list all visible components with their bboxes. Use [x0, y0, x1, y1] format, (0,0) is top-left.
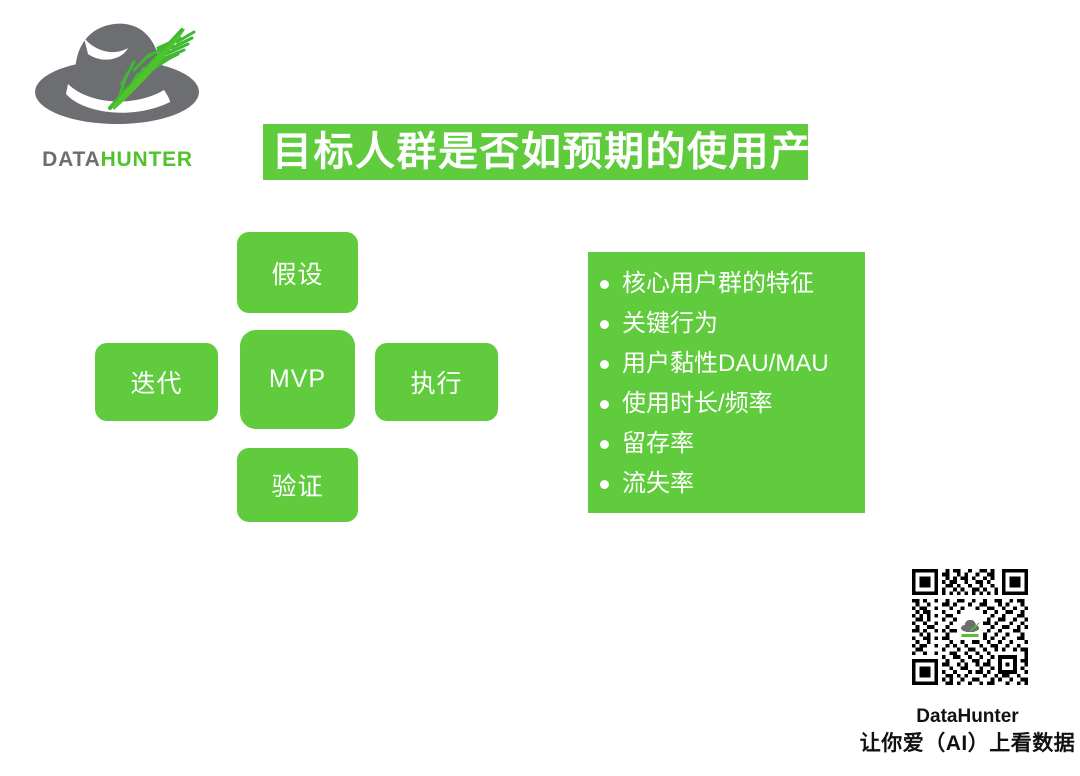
bullet-dot-icon — [600, 320, 609, 329]
bullet-dot-icon — [600, 480, 609, 489]
list-item: 关键行为 — [600, 304, 855, 344]
cowboy-hat-with-feather-logo-icon — [22, 12, 212, 132]
list-item: 使用时长/频率 — [600, 384, 855, 424]
list-item: 流失率 — [600, 464, 855, 504]
brand-wordmark: DATAHUNTER — [25, 148, 210, 172]
metric-label: 用户黏性DAU/MAU — [622, 352, 829, 376]
metrics-panel: 核心用户群的特征 关键行为 用户黏性DAU/MAU 使用时长/频率 留存率 流失… — [588, 252, 865, 513]
diagram-node-execute[interactable]: 执行 — [375, 343, 498, 421]
list-item: 留存率 — [600, 424, 855, 464]
metric-label: 使用时长/频率 — [622, 392, 773, 416]
footer-brand: DataHunter — [855, 705, 1080, 730]
wordmark-data: DATA — [42, 148, 100, 171]
list-item: 核心用户群的特征 — [600, 264, 855, 304]
metric-label: 留存率 — [622, 432, 694, 456]
metric-label: 关键行为 — [622, 312, 718, 336]
footer-tagline: 让你爱（AI）上看数据 — [855, 730, 1080, 758]
metrics-list: 核心用户群的特征 关键行为 用户黏性DAU/MAU 使用时长/频率 留存率 流失… — [600, 264, 855, 504]
qr-code-block[interactable] — [905, 563, 1035, 691]
metric-label: 核心用户群的特征 — [622, 272, 814, 296]
page-title-banner: 目标人群是否如预期的使用产品 — [263, 124, 808, 180]
page-title: 目标人群是否如预期的使用产品 — [272, 132, 853, 172]
bullet-dot-icon — [600, 440, 609, 449]
bullet-dot-icon — [600, 360, 609, 369]
metric-label: 流失率 — [622, 472, 694, 496]
bullet-dot-icon — [600, 280, 609, 289]
diagram-node-mvp[interactable]: MVP — [240, 330, 355, 429]
footer-caption: DataHunter 让你爱（AI）上看数据 — [855, 705, 1080, 758]
list-item: 用户黏性DAU/MAU — [600, 344, 855, 384]
slide-canvas: DATAHUNTER 目标人群是否如预期的使用产品 假设 迭代 MVP 执行 验… — [0, 0, 1080, 776]
diagram-node-iterate[interactable]: 迭代 — [95, 343, 218, 421]
bullet-dot-icon — [600, 400, 609, 409]
diagram-node-validate[interactable]: 验证 — [237, 448, 358, 522]
brand-logo: DATAHUNTER — [22, 12, 212, 172]
wordmark-hunter: HUNTER — [101, 148, 193, 171]
diagram-node-hypothesis[interactable]: 假设 — [237, 232, 358, 313]
qr-code-icon[interactable] — [908, 563, 1032, 691]
